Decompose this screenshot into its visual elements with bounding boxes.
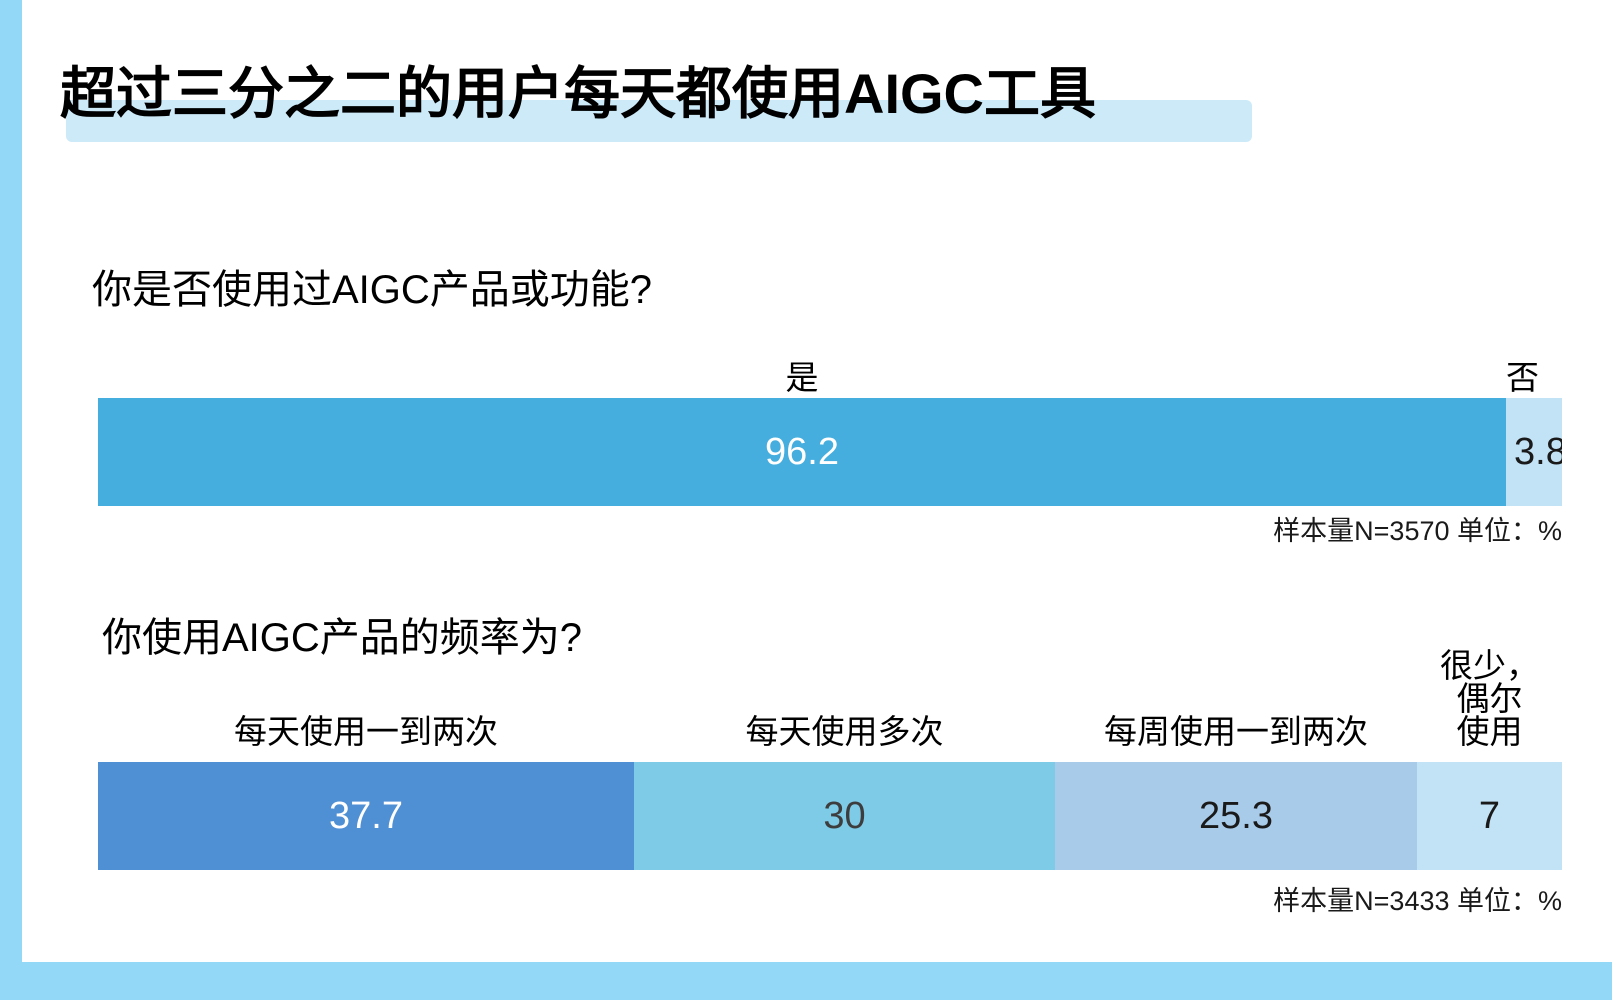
chart-2-segment-weekly-1-2[interactable]: 25.3 <box>1055 762 1417 870</box>
chart-2-label-daily-1-2: 每天使用一到两次 <box>98 618 634 748</box>
chart-1-label-row: 是 否 <box>98 350 1562 394</box>
chart-2-stacked-bar: 37.7 30 25.3 7 <box>98 762 1562 870</box>
chart-2-label-weekly-1-2: 每周使用一到两次 <box>1055 618 1417 748</box>
slide-canvas: 超过三分之二的用户每天都使用AIGC工具 你是否使用过AIGC产品或功能? 是 … <box>22 0 1612 962</box>
chart-2-segment-rarely[interactable]: 7 <box>1417 762 1562 870</box>
chart-2-label-rarely-line-2: 偶尔 <box>1440 682 1539 715</box>
chart-1-label-yes: 是 <box>98 350 1506 394</box>
chart-2-segment-daily-many[interactable]: 30 <box>634 762 1055 870</box>
chart-1-footnote: 样本量N=3570 单位：% <box>962 518 1562 545</box>
chart-2-label-daily-many: 每天使用多次 <box>634 618 1055 748</box>
chart-1-segment-no[interactable]: 3.8 <box>1506 398 1562 506</box>
chart-1-segment-yes[interactable]: 96.2 <box>98 398 1506 506</box>
title-text: 超过三分之二的用户每天都使用AIGC工具 <box>60 66 1096 122</box>
question-1-text: 你是否使用过AIGC产品或功能? <box>92 270 652 310</box>
chart-1-label-no: 否 <box>1506 350 1562 394</box>
page-title: 超过三分之二的用户每天都使用AIGC工具 <box>60 40 1360 150</box>
slide-frame: 超过三分之二的用户每天都使用AIGC工具 你是否使用过AIGC产品或功能? 是 … <box>22 0 1612 962</box>
chart-2-footnote: 样本量N=3433 单位：% <box>962 888 1562 915</box>
chart-2-label-rarely-line-1: 很少， <box>1440 649 1539 682</box>
chart-2-label-rarely: 很少， 偶尔 使用 <box>1417 618 1562 748</box>
chart-2-label-rarely-line-3: 使用 <box>1440 715 1539 748</box>
chart-2-segment-daily-1-2[interactable]: 37.7 <box>98 762 634 870</box>
chart-2-label-row: 每天使用一到两次 每天使用多次 每周使用一到两次 很少， 偶尔 使用 <box>98 618 1562 748</box>
chart-1-stacked-bar: 96.2 3.8 <box>98 398 1562 506</box>
